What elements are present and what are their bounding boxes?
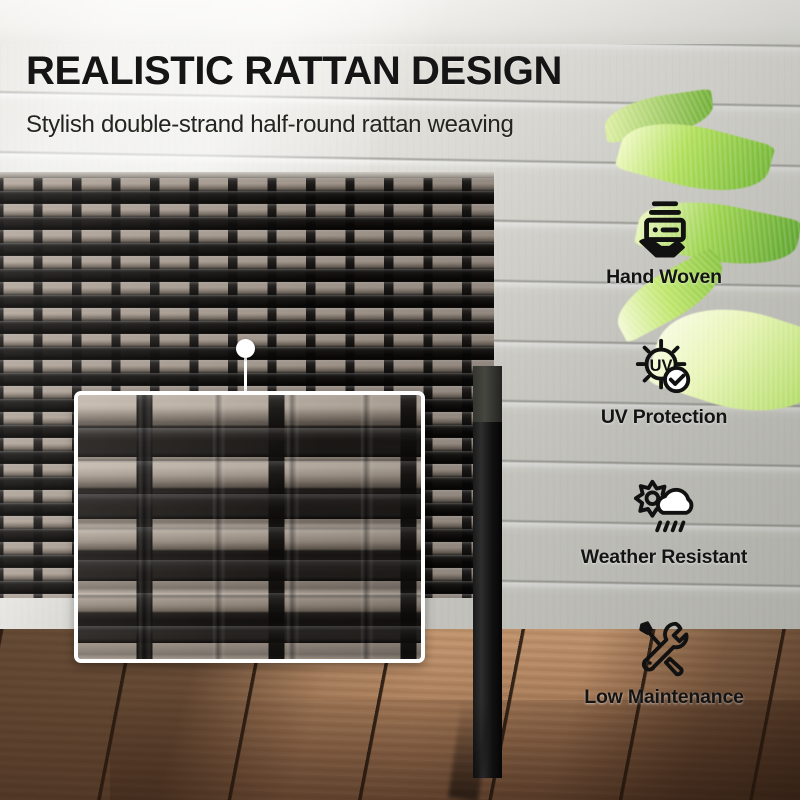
- low-maintenance-icon: [633, 616, 695, 678]
- page-subtitle: Stylish double-strand half-round rattan …: [26, 111, 686, 139]
- page-title: REALISTIC RATTAN DESIGN: [26, 50, 666, 92]
- zoom-pin-stem: [244, 357, 247, 393]
- furniture-leg-cap: [473, 366, 502, 422]
- feature-label: Low Maintenance: [536, 686, 792, 709]
- feature-label: Hand Woven: [536, 266, 792, 289]
- feature-item-low-maintenance: Low Maintenance: [536, 616, 792, 756]
- weather-resistant-icon: [633, 476, 695, 538]
- closeup-weave-texture: [78, 395, 421, 659]
- product-feature-banner: REALISTIC RATTAN DESIGN Stylish double-s…: [0, 0, 800, 800]
- uv-protection-icon: UV: [633, 336, 695, 398]
- feature-item-weather-resistant: Weather Resistant: [536, 476, 792, 616]
- feature-list: Hand Woven UV UV Protection: [536, 196, 792, 756]
- feature-label: Weather Resistant: [536, 546, 792, 569]
- feature-item-uv-protection: UV UV Protection: [536, 336, 792, 476]
- zoom-pin-head-icon: [236, 339, 255, 358]
- feature-item-hand-woven: Hand Woven: [536, 196, 792, 336]
- furniture-metal-leg: [473, 366, 502, 778]
- weave-closeup-inset: [74, 391, 425, 663]
- hand-woven-icon: [633, 196, 695, 258]
- siding-top-panel: [0, 0, 800, 44]
- feature-label: UV Protection: [536, 406, 792, 429]
